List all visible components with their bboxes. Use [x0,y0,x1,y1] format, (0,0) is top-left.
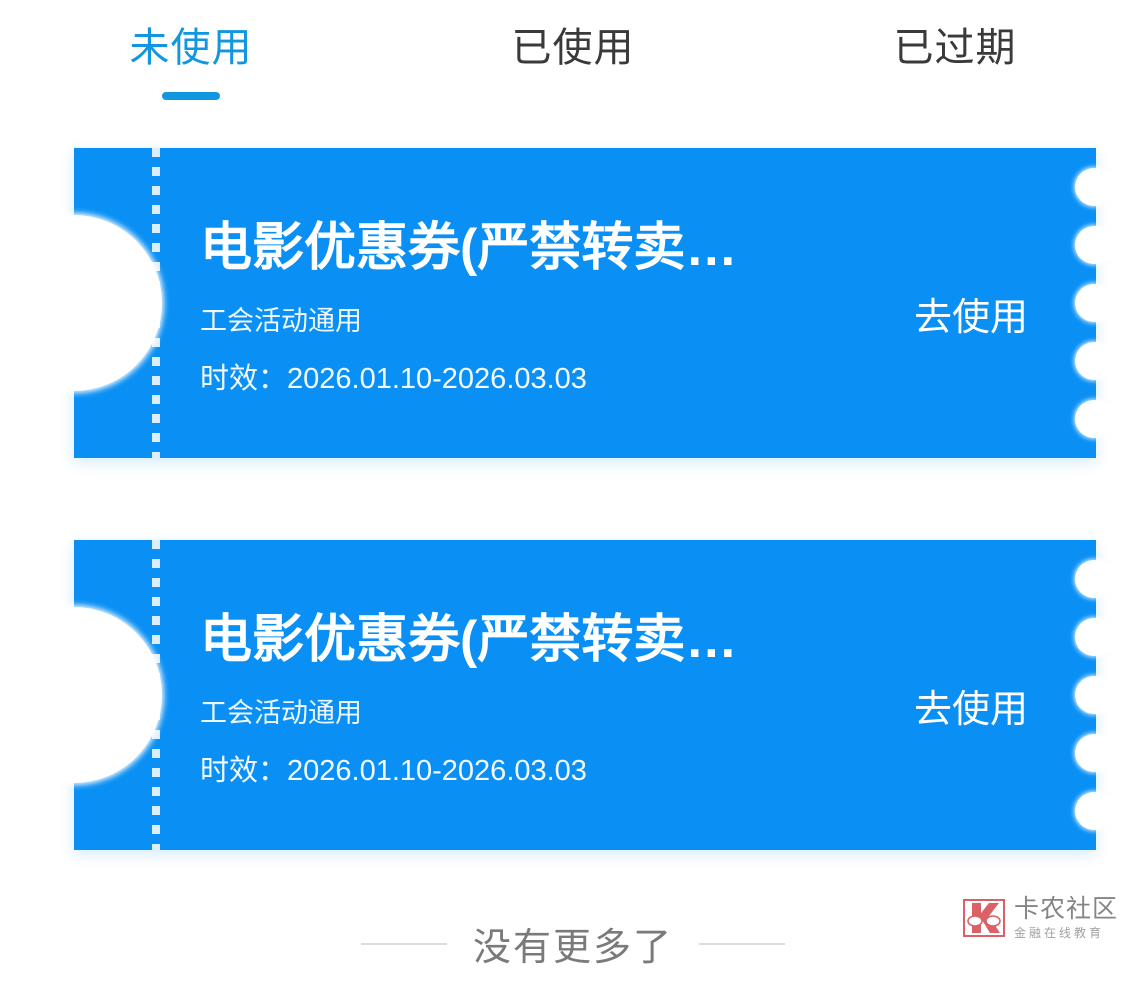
coupon-title: 电影优惠券(严禁转卖… [200,220,737,277]
coupon-info: 电影优惠券(严禁转卖… 工会活动通用 时效：2026.01.10-2026.03… [200,212,737,393]
k-logo-icon [962,896,1006,940]
ticket-left-notch-icon [0,607,162,783]
coupon-card[interactable]: 电影优惠券(严禁转卖… 工会活动通用 时效：2026.01.10-2026.03… [74,540,1096,850]
end-of-list-rule-right [699,943,785,945]
coupon-validity: 时效：2026.01.10-2026.03.03 [200,365,737,394]
tab-unused[interactable]: 未使用 [0,0,382,116]
watermark-name: 卡农社区 [1014,897,1118,922]
tab-unused-label: 未使用 [130,0,253,68]
coupon-body: 电影优惠券(严禁转卖… 工会活动通用 时效：2026.01.10-2026.03… [200,148,1096,458]
coupon-info: 电影优惠券(严禁转卖… 工会活动通用 时效：2026.01.10-2026.03… [200,604,737,785]
watermark-text: 卡农社区 金融在线教育 [1014,897,1118,939]
coupon-list: 电影优惠券(严禁转卖… 工会活动通用 时效：2026.01.10-2026.03… [0,148,1146,932]
tab-used[interactable]: 已使用 [382,0,764,116]
ticket-perforation-icon [152,148,160,458]
tab-active-indicator [162,92,220,100]
coupon-title: 电影优惠券(严禁转卖… [200,612,737,669]
tab-expired[interactable]: 已过期 [764,0,1146,116]
coupon-slot: 电影优惠券(严禁转卖… 工会活动通用 时效：2026.01.10-2026.03… [0,540,1146,850]
coupon-scope: 工会活动通用 [200,700,737,727]
tab-expired-label: 已过期 [894,0,1017,68]
tab-used-label: 已使用 [512,0,635,68]
coupon-scope: 工会活动通用 [200,308,737,335]
coupon-body: 电影优惠券(严禁转卖… 工会活动通用 时效：2026.01.10-2026.03… [200,540,1096,850]
ticket-perforation-icon [152,540,160,850]
use-coupon-button[interactable]: 去使用 [914,658,1064,733]
coupon-card[interactable]: 电影优惠券(严禁转卖… 工会活动通用 时效：2026.01.10-2026.03… [74,148,1096,458]
coupon-slot: 电影优惠券(严禁转卖… 工会活动通用 时效：2026.01.10-2026.03… [0,148,1146,458]
end-of-list-rule-left [361,943,447,945]
use-coupon-button[interactable]: 去使用 [914,266,1064,341]
watermark-tagline: 金融在线教育 [1014,927,1118,939]
ticket-left-notch-icon [0,215,162,391]
coupon-validity: 时效：2026.01.10-2026.03.03 [200,757,737,786]
coupon-status-tabs: 未使用 已使用 已过期 [0,0,1146,116]
watermark: 卡农社区 金融在线教育 [962,896,1118,940]
end-of-list-label: 没有更多了 [473,916,673,971]
